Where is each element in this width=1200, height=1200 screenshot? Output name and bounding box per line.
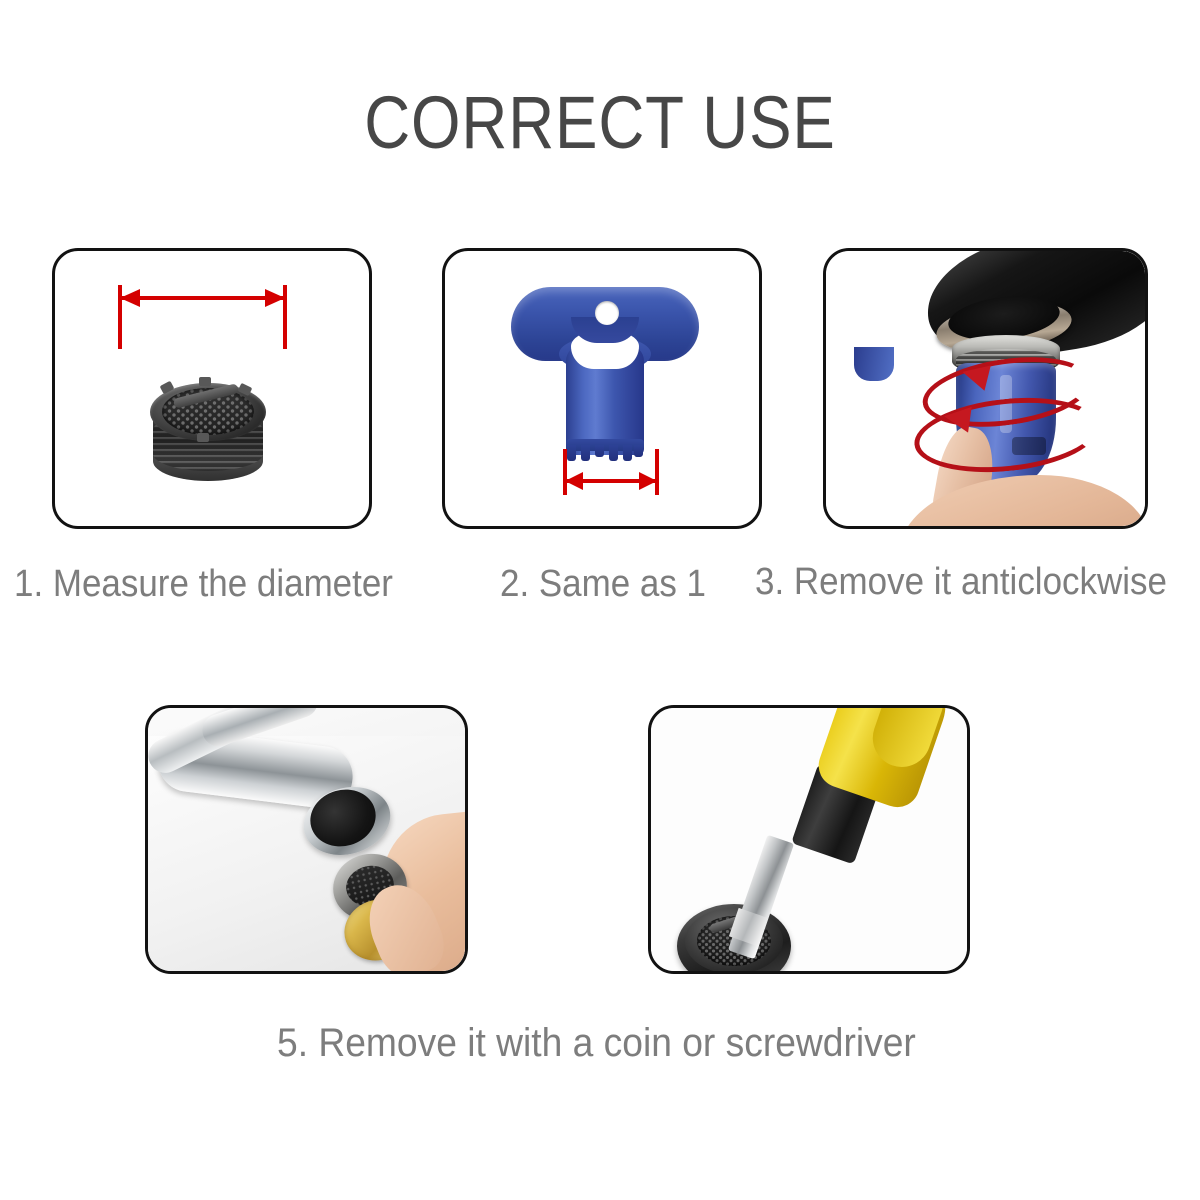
step-3-caption: 3. Remove it anticlockwise xyxy=(755,561,1167,604)
step-2-panel xyxy=(442,248,762,529)
step-2-illustration xyxy=(445,251,759,526)
step-3-illustration xyxy=(826,251,1145,526)
aerator-notch xyxy=(197,433,209,442)
rotation-arrow-head-icon xyxy=(942,403,971,432)
diameter-measure-arrow-icon xyxy=(118,285,287,349)
screwdriver-removal-illustration xyxy=(651,708,967,971)
arrow-right-icon xyxy=(265,289,285,307)
step-1-illustration xyxy=(55,251,369,526)
step-2-caption: 2. Same as 1 xyxy=(500,563,706,606)
key-foot xyxy=(854,347,894,381)
remove-anticlockwise-photo xyxy=(826,251,1145,526)
page-title: CORRECT USE xyxy=(84,86,1116,160)
step-3-panel xyxy=(823,248,1148,529)
aerator-diagram xyxy=(55,251,369,526)
arrow-left-icon xyxy=(120,289,140,307)
step-5-screwdriver-panel xyxy=(648,705,970,974)
aerator-icon xyxy=(147,355,269,485)
arrow-right-icon xyxy=(639,472,657,490)
coin-removal-illustration xyxy=(148,708,465,971)
step-1-caption: 1. Measure the diameter xyxy=(14,563,393,606)
coin-removal-photo xyxy=(148,708,465,971)
step-5-caption: 5. Remove it with a coin or screwdriver xyxy=(277,1021,916,1066)
socket-measure-arrow-icon xyxy=(563,449,659,495)
arrow-left-icon xyxy=(565,472,583,490)
measure-line xyxy=(120,296,285,300)
step-5-coin-panel xyxy=(145,705,468,974)
key-wing-notch xyxy=(571,331,639,369)
step-1-panel xyxy=(52,248,372,529)
screwdriver-removal-photo xyxy=(651,708,967,971)
aerator-notch xyxy=(199,377,211,386)
aerator-key-diagram xyxy=(445,251,759,526)
key-hole-icon xyxy=(595,301,619,325)
